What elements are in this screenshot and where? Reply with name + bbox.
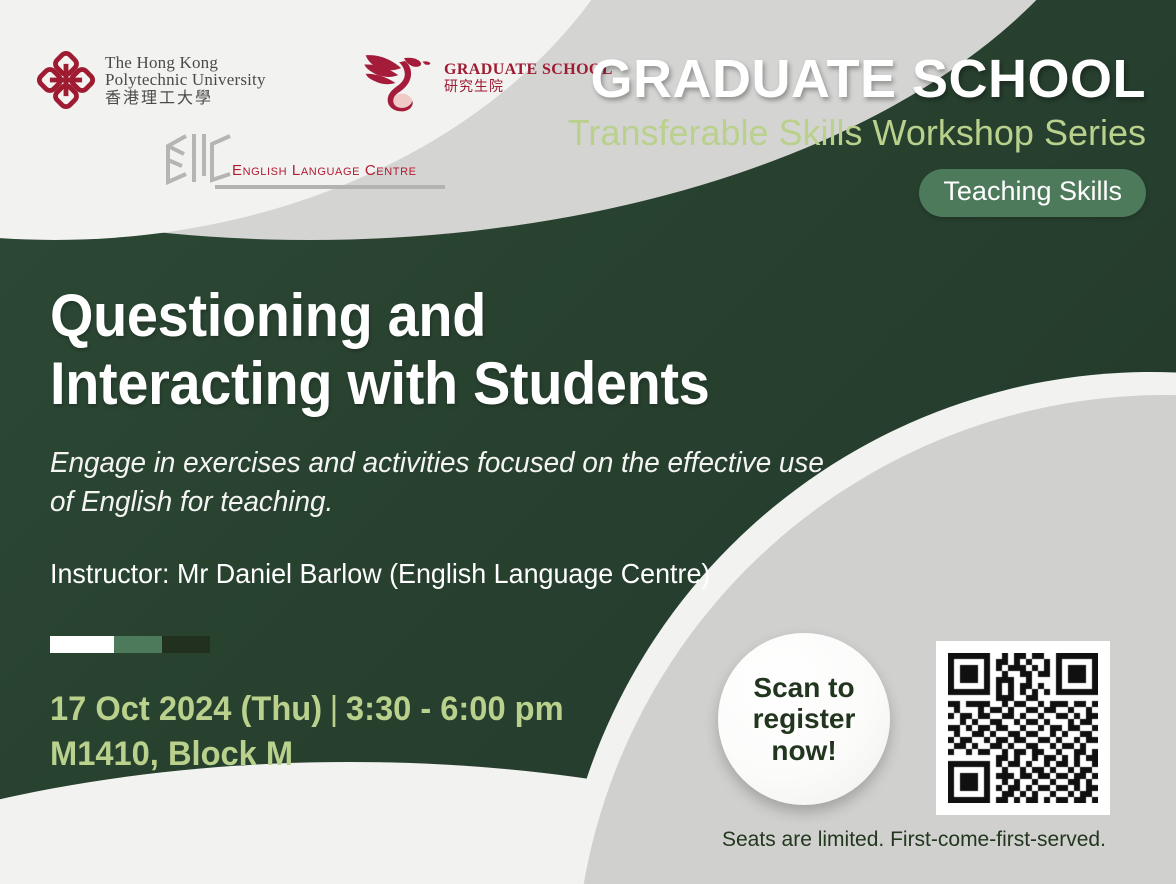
qr-code-canvas[interactable] — [948, 653, 1098, 803]
scan-to-register-badge[interactable]: Scan to register now! — [718, 633, 890, 805]
polyu-knot-icon — [36, 50, 96, 110]
rule-segment-white — [50, 636, 114, 653]
scan-line-2: register — [753, 703, 856, 734]
status-badge: Teaching Skills — [919, 169, 1146, 217]
poster-root: The Hong Kong Polytechnic University 香港理… — [0, 0, 1176, 884]
workshop-time: 3:30 - 6:00 pm — [346, 690, 564, 728]
header-title: GRADUATE SCHOOL — [506, 52, 1146, 106]
crane-icon — [360, 42, 438, 114]
qr-code[interactable] — [936, 641, 1110, 815]
header-block: GRADUATE SCHOOL Transferable Skills Work… — [506, 52, 1146, 217]
polyu-line-1: The Hong Kong — [105, 54, 266, 71]
scan-badge-text: Scan to register now! — [753, 672, 856, 766]
polyu-chinese: 香港理工大學 — [105, 90, 266, 106]
workshop-title-line-2: Interacting with Students — [50, 350, 868, 418]
polyu-wordmark: The Hong Kong Polytechnic University 香港理… — [105, 54, 266, 107]
decorative-rule-bar — [50, 636, 210, 653]
scan-line-3: now! — [753, 735, 856, 766]
datetime-separator: | — [322, 690, 346, 728]
workshop-description-line-2: of English for teaching. — [50, 483, 895, 522]
polyu-logo: The Hong Kong Polytechnic University 香港理… — [36, 50, 266, 110]
workshop-instructor: Instructor: Mr Daniel Barlow (English La… — [50, 558, 895, 590]
workshop-title: Questioning and Interacting with Student… — [50, 282, 868, 418]
elc-monogram-icon — [160, 130, 250, 192]
english-language-centre-logo: English Language Centre — [160, 130, 445, 192]
workshop-title-line-1: Questioning and — [50, 282, 868, 350]
workshop-date: 17 Oct 2024 (Thu) — [50, 690, 322, 728]
workshop-description: Engage in exercises and activities focus… — [50, 444, 895, 523]
elc-wordmark: English Language Centre — [232, 162, 417, 179]
rule-segment-green — [114, 636, 162, 653]
scan-line-1: Scan to — [753, 672, 856, 703]
workshop-description-line-1: Engage in exercises and activities focus… — [50, 444, 895, 483]
footnote-text: Seats are limited. First-come-first-serv… — [722, 828, 1142, 852]
header-subtitle: Transferable Skills Workshop Series — [506, 112, 1146, 153]
polyu-line-2: Polytechnic University — [105, 71, 266, 88]
rule-segment-dark — [162, 636, 210, 653]
elc-underline — [215, 185, 445, 189]
